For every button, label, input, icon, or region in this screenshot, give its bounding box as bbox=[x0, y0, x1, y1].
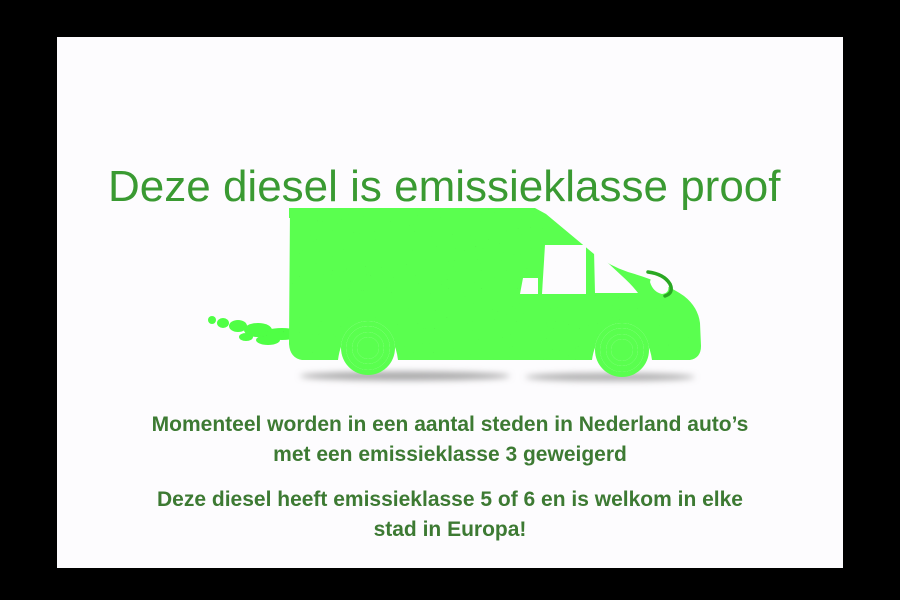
slide-frame: Deze diesel is emissieklasse proof bbox=[0, 0, 900, 600]
van-wheels bbox=[330, 310, 660, 390]
body-line: met een emissieklasse 3 geweigerd bbox=[57, 440, 843, 470]
body-paragraph-1: Momenteel worden in een aantal steden in… bbox=[57, 410, 843, 470]
body-line: stad in Europa! bbox=[57, 515, 843, 545]
slide-canvas: Deze diesel is emissieklasse proof bbox=[57, 37, 843, 568]
body-line: Deze diesel heeft emissieklasse 5 of 6 e… bbox=[57, 485, 843, 515]
body-line: Momenteel worden in een aantal steden in… bbox=[57, 410, 843, 440]
van-graphic bbox=[190, 190, 730, 405]
body-paragraph-2: Deze diesel heeft emissieklasse 5 of 6 e… bbox=[57, 485, 843, 545]
van-illustration bbox=[190, 190, 730, 405]
